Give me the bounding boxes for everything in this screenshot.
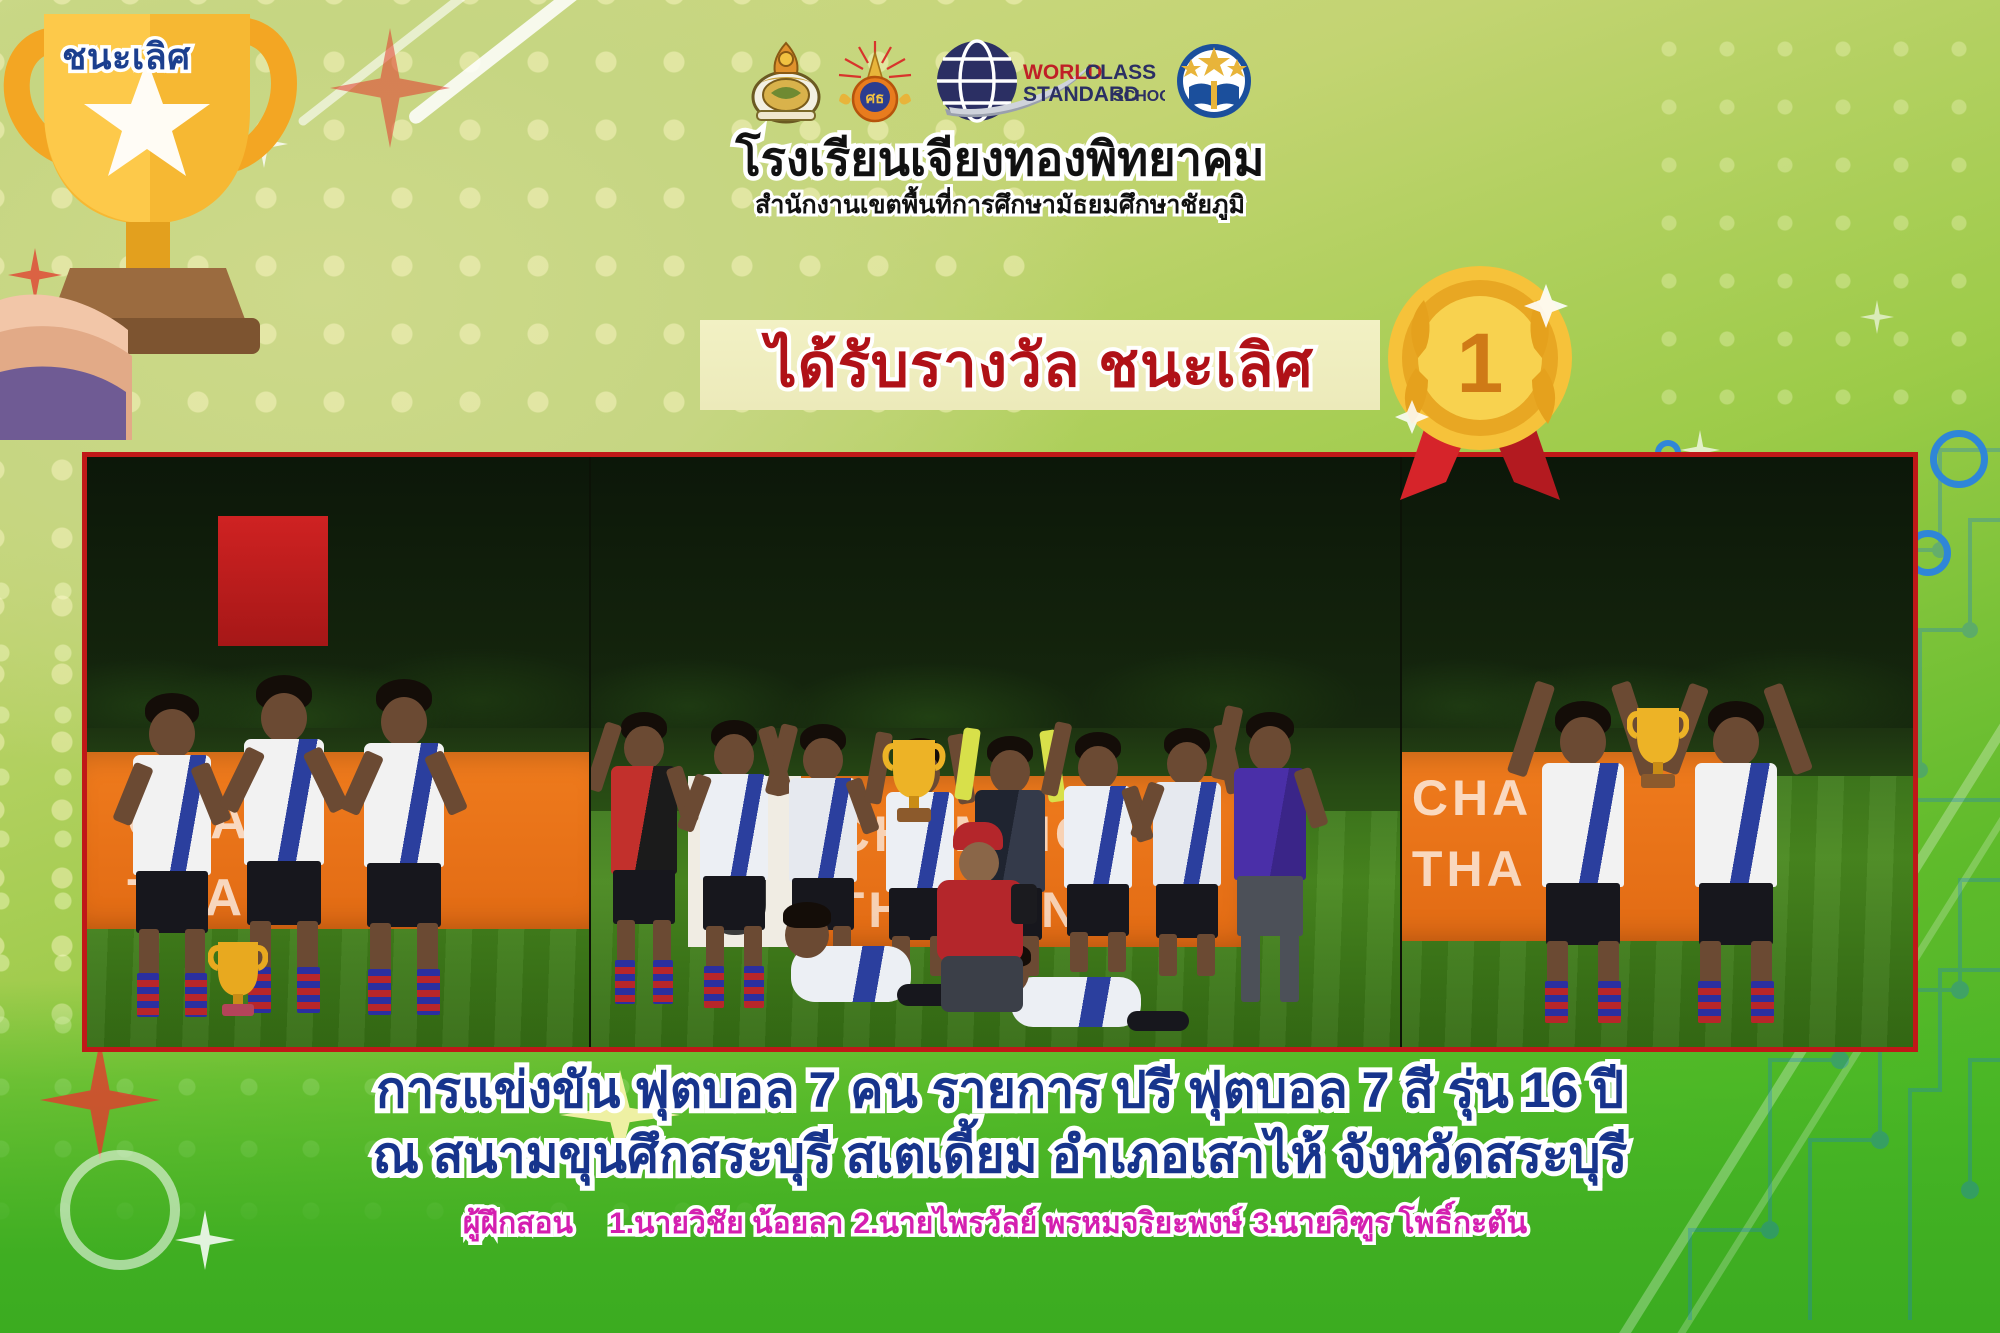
school-name: โรงเรียนเจียงทองพิทยาคม bbox=[600, 134, 1400, 183]
world-class-standard-school-logo-icon: WORLD CLASS STANDARD SCHOOL bbox=[925, 37, 1165, 130]
coach-label: ผู้ฝึกสอน bbox=[463, 1207, 573, 1240]
photo-panel-center: CHAMPION THAILAND bbox=[589, 457, 1402, 1047]
first-place-medal-icon: 1 bbox=[1370, 250, 1590, 510]
school-subtitle: สำนักงานเขตพื้นที่การศึกษามัธยมศึกษาชัยภ… bbox=[600, 185, 1400, 225]
competition-line-2: ณ สนามขุนศึกสระบุรี สเตเดี้ยม อำเภอเสาไห… bbox=[0, 1123, 2000, 1188]
logo-row: ศธ WORLD bbox=[600, 38, 1400, 128]
award-title: ได้รับรางวัล ชนะเลิศ bbox=[700, 318, 1380, 412]
player-figure bbox=[358, 679, 450, 1023]
coach-item-1: 1.นายวิชัย น้อยลา bbox=[609, 1207, 843, 1240]
background-dot-pattern-right bbox=[1640, 20, 2000, 440]
trophy-on-ground bbox=[208, 936, 268, 1029]
poster-header: ศธ WORLD bbox=[600, 38, 1400, 225]
wcss-word-class: CLASS bbox=[1085, 61, 1156, 84]
photo-panel-right: CHA THA bbox=[1402, 457, 1913, 1047]
coach-item-2: 2.นายไพรวัลย์ พรหมจริยะพงษ์ bbox=[853, 1207, 1242, 1240]
royal-garuda-emblem-icon bbox=[747, 37, 825, 130]
gold-medal-illustration: 1 bbox=[1370, 250, 1590, 510]
player-figure bbox=[607, 712, 681, 1012]
competition-details: การแข่งขัน ฟุตบอล 7 คน รายการ ปรี ฟุตบอล… bbox=[0, 1058, 2000, 1247]
photo-panel-left: CHA THAM bbox=[87, 457, 589, 1047]
winner-badge-label: ชนะเลิศ bbox=[62, 28, 191, 85]
svg-text:ศธ: ศธ bbox=[866, 90, 885, 107]
medal-rank-number: 1 bbox=[1457, 316, 1504, 410]
decorative-circle bbox=[1930, 430, 1988, 488]
trophy-held-right bbox=[1627, 702, 1689, 799]
trophy-held-aloft bbox=[882, 734, 946, 835]
team-photo-collage: CHA THAM bbox=[82, 452, 1918, 1052]
coach-line: ผู้ฝึกสอน1.นายวิชัย น้อยลา2.นายไพรวัลย์ … bbox=[0, 1200, 2000, 1247]
coach-item-3: 3.นายวิฑูร โพธิ์กะตัน bbox=[1253, 1207, 1528, 1240]
coach-figure bbox=[1230, 712, 1310, 1012]
wcss-word-school: SCHOOL bbox=[1113, 88, 1165, 105]
coach-kneeling-figure bbox=[923, 822, 1053, 1012]
player-figure bbox=[127, 693, 217, 1023]
obec-book-logo-icon bbox=[1175, 37, 1253, 130]
ministry-of-education-emblem-icon: ศธ bbox=[835, 37, 915, 130]
competition-line-1: การแข่งขัน ฟุตบอล 7 คน รายการ ปรี ฟุตบอล… bbox=[0, 1058, 2000, 1123]
player-figure bbox=[696, 720, 772, 1012]
player-figure bbox=[1688, 675, 1784, 1023]
player-figure bbox=[1535, 671, 1631, 1023]
trophy-illustration: ชนะเลิศ bbox=[0, 0, 340, 440]
